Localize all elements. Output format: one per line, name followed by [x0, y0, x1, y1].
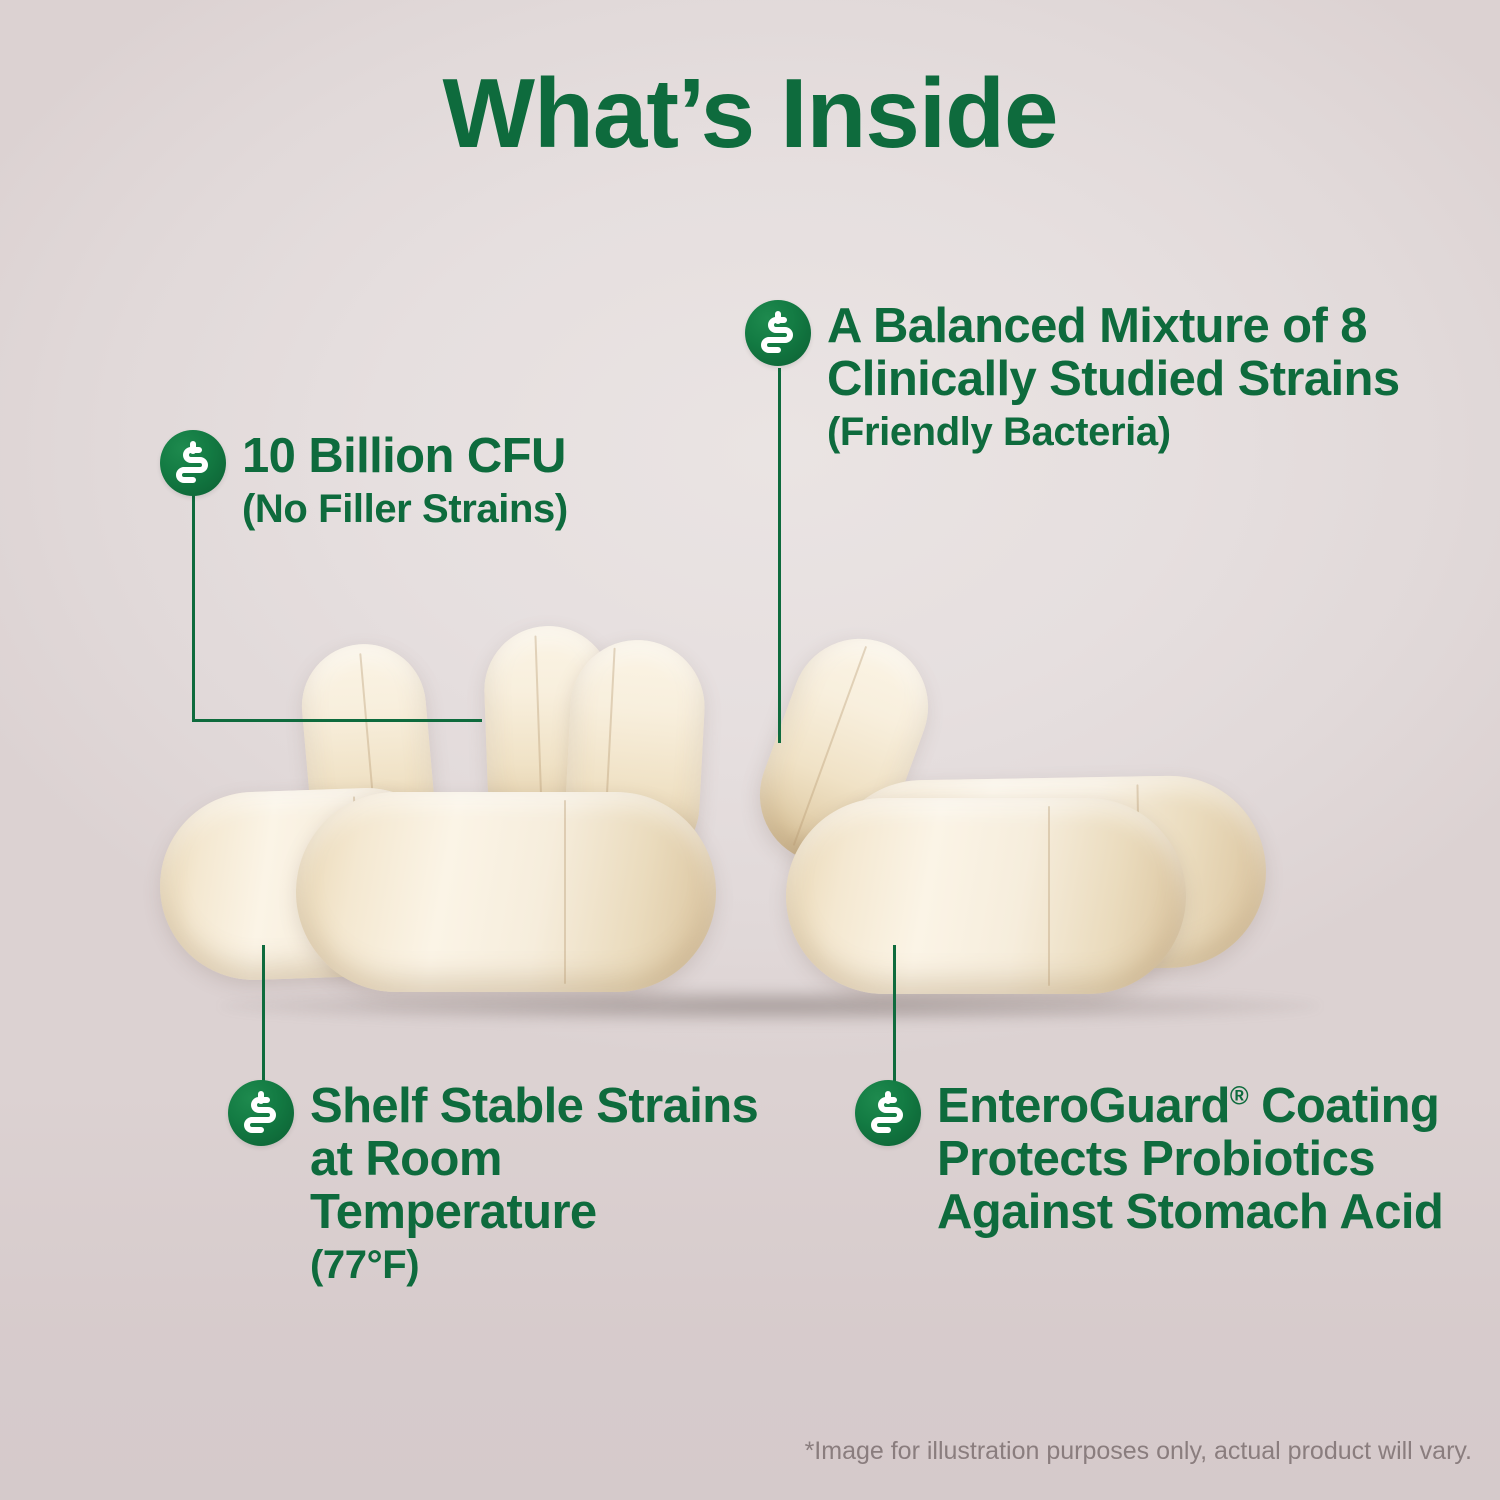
- capsule-bottom-right-front: [786, 798, 1186, 994]
- leader-line-shelf-vertical: [262, 945, 265, 1095]
- callout-main-text: Shelf Stable Strains at Room Temperature: [310, 1080, 780, 1239]
- gut-intestine-icon: [855, 1080, 921, 1146]
- callout-main-text: EnteroGuard® Coating Protects Probiotics…: [937, 1080, 1467, 1239]
- gut-intestine-icon: [745, 300, 811, 366]
- callout-sub-text: (Friendly Bacteria): [827, 410, 1407, 455]
- brand-name: EnteroGuard: [937, 1079, 1230, 1133]
- pile-ground-shadow: [220, 988, 1320, 1024]
- callout-shelf-stable[interactable]: Shelf Stable Strains at Room Temperature…: [228, 1080, 788, 1288]
- gut-intestine-icon: [160, 430, 226, 496]
- page-title: What’s Inside: [0, 62, 1500, 165]
- callout-balanced-mixture-strains[interactable]: A Balanced Mixture of 8 Clinically Studi…: [745, 300, 1425, 455]
- registered-trademark-mark: ®: [1230, 1083, 1248, 1111]
- callout-10-billion-cfu[interactable]: 10 Billion CFU (No Filler Strains): [160, 430, 700, 532]
- gut-intestine-icon: [228, 1080, 294, 1146]
- infographic-canvas: What’s Inside: [0, 0, 1500, 1500]
- disclaimer-footnote: *Image for illustration purposes only, a…: [805, 1437, 1472, 1466]
- callout-enteroguard-coating[interactable]: EnteroGuard® Coating Protects Probiotics…: [855, 1080, 1475, 1239]
- leader-line-cfu-horizontal: [192, 719, 482, 722]
- callout-main-text: A Balanced Mixture of 8 Clinically Studi…: [827, 300, 1407, 406]
- callout-main-text: 10 Billion CFU: [242, 429, 566, 483]
- leader-line-coating-vertical: [893, 945, 896, 1095]
- callout-sub-text: (77°F): [310, 1243, 780, 1288]
- capsule-bottom-left: [296, 792, 716, 992]
- callout-sub-text: (No Filler Strains): [242, 487, 568, 532]
